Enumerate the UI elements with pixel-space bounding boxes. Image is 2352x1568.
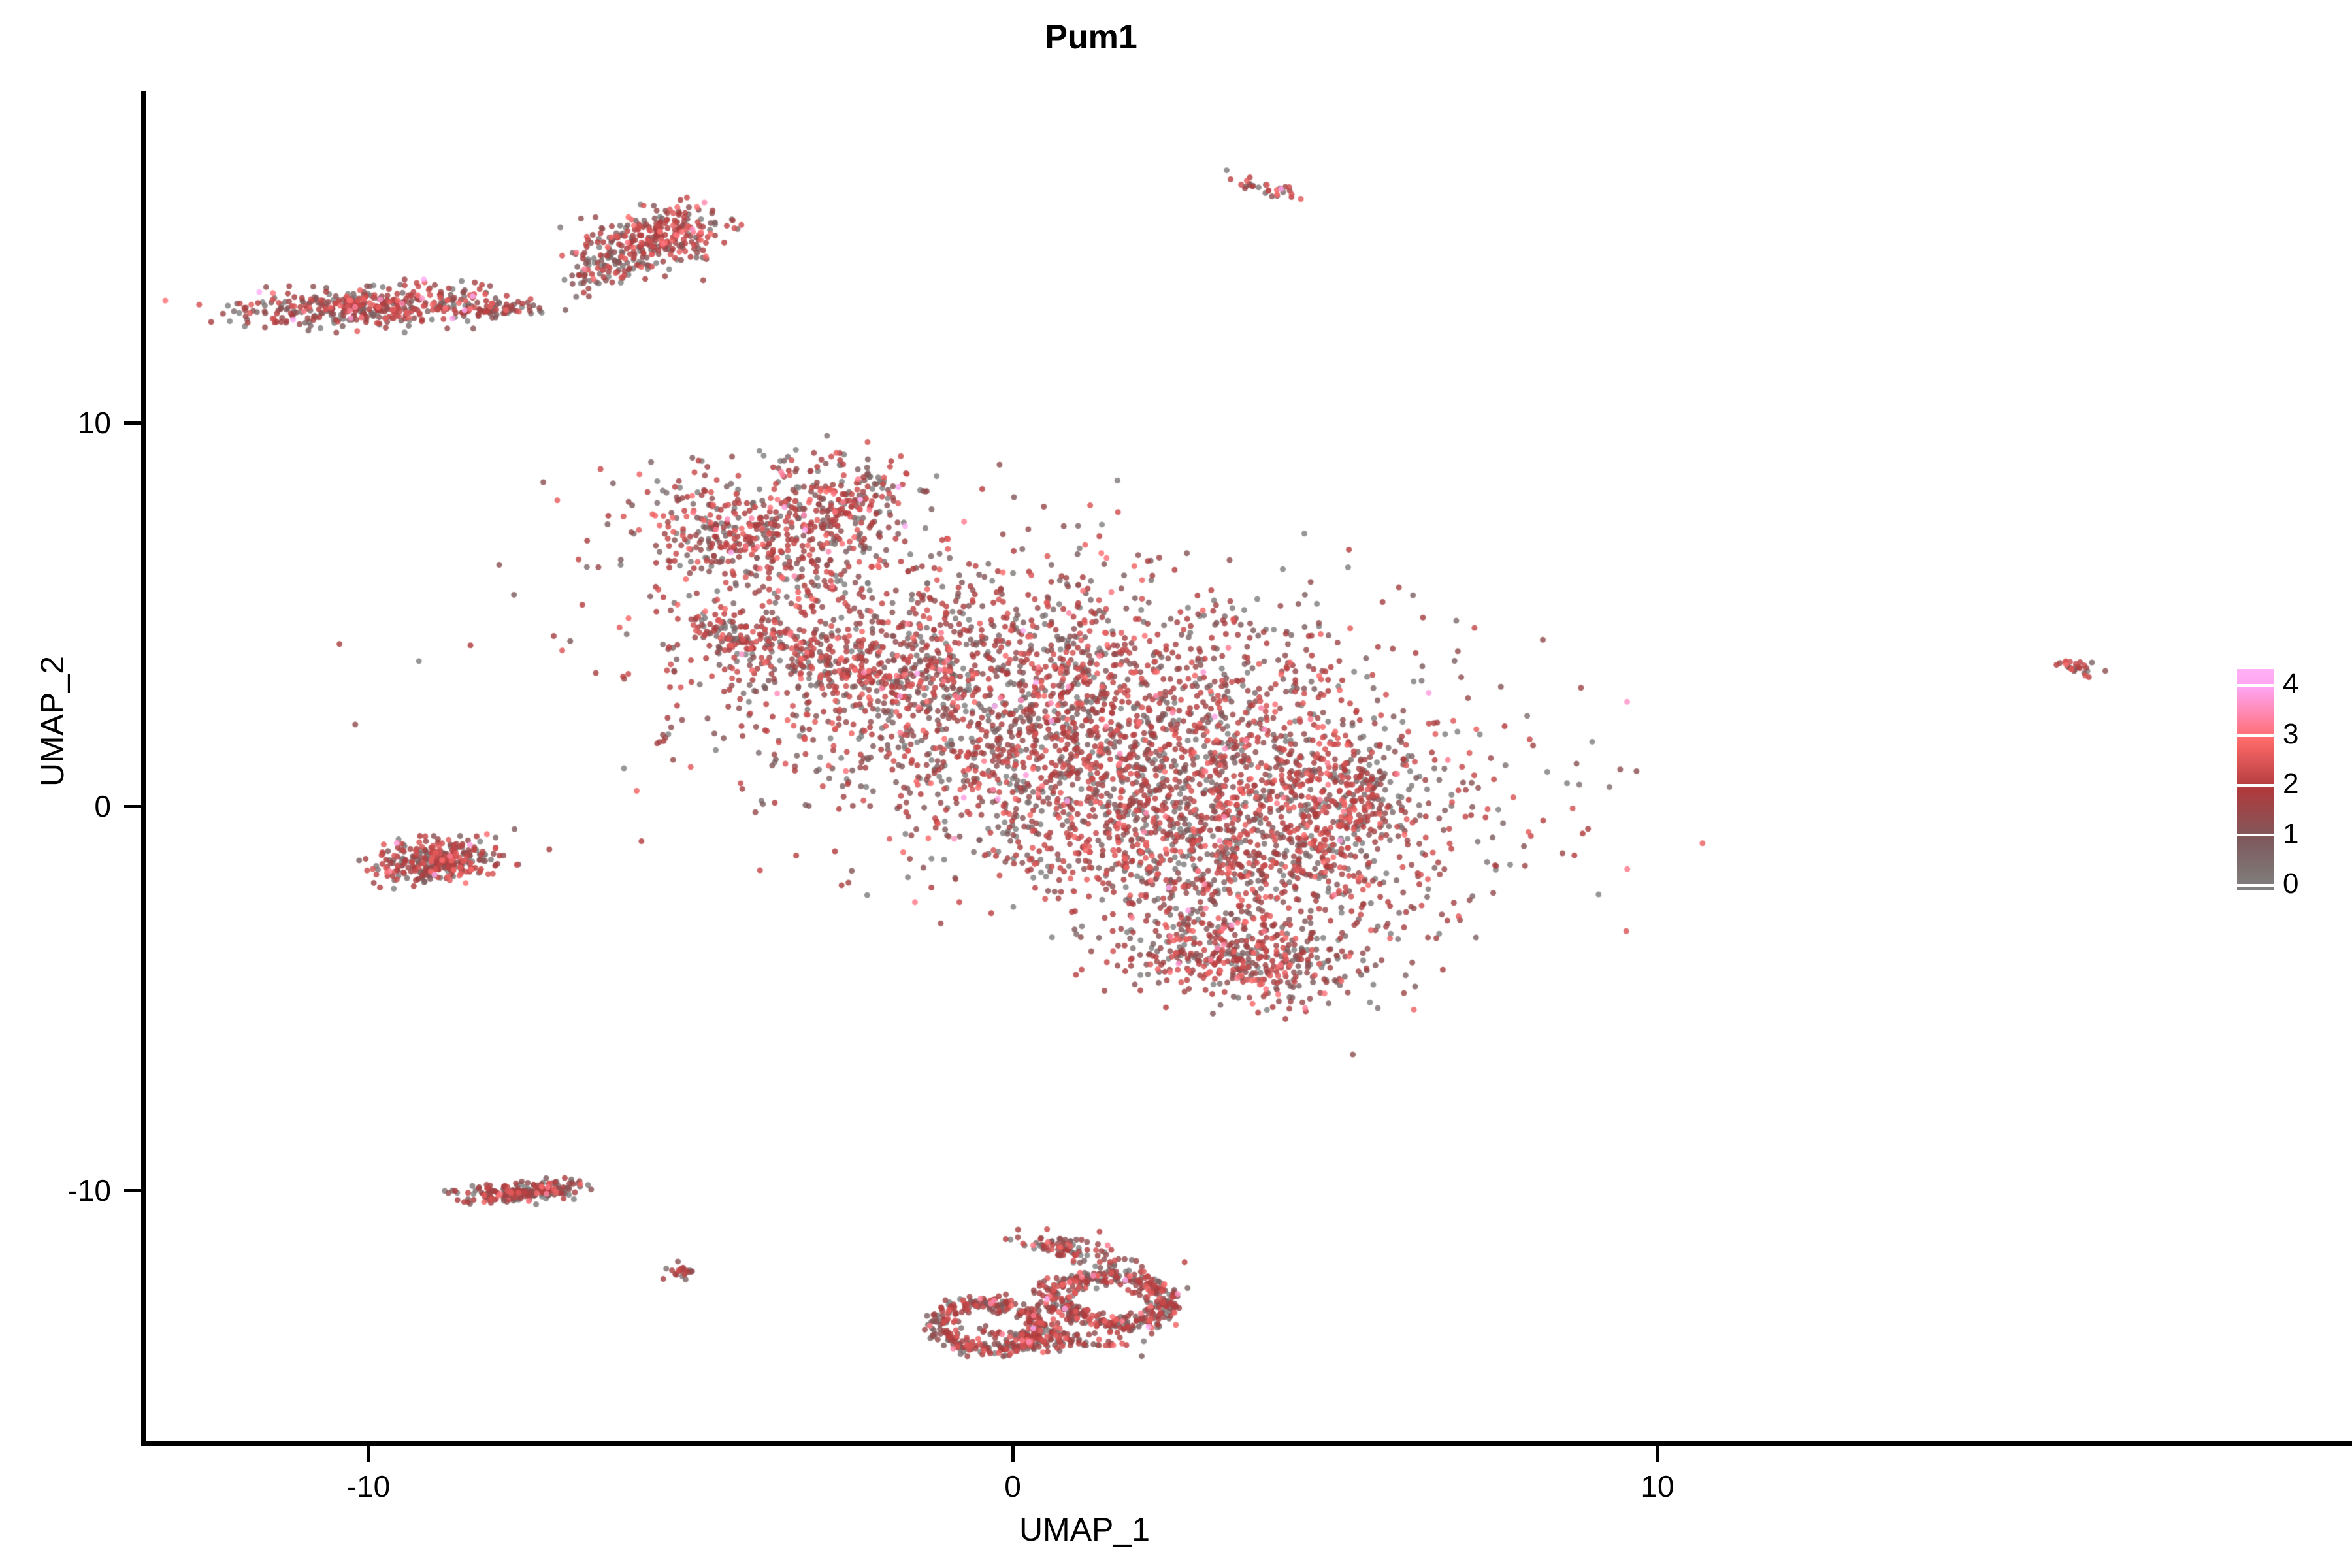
x-tick-label-0: -10 <box>303 1469 434 1504</box>
x-tick-label-1: 0 <box>947 1469 1078 1504</box>
y-tick-mark-2 <box>124 1189 141 1192</box>
x-tick-label-2: 10 <box>1592 1469 1723 1504</box>
x-axis-line <box>141 1441 2352 1446</box>
x-tick-mark-1 <box>1011 1445 1015 1462</box>
page-title: Pum1 <box>0 18 2182 56</box>
y-axis-title: UMAP_2 <box>33 460 71 983</box>
colorbar-tick-3 <box>2237 734 2274 737</box>
y-tick-mark-1 <box>124 805 141 808</box>
y-axis-line <box>141 91 146 1445</box>
colorbar-tick-1 <box>2237 834 2274 836</box>
plot-panel <box>145 91 2281 1441</box>
scatter-points-layer <box>145 91 2281 1441</box>
colorbar-label-0: 0 <box>2283 868 2298 900</box>
colorbar-label-2: 2 <box>2283 768 2298 800</box>
x-axis-title: UMAP_1 <box>823 1511 1346 1548</box>
colorbar-label-3: 3 <box>2283 718 2298 751</box>
y-tick-mark-0 <box>124 421 141 425</box>
umap-feature-plot-figure: Pum1 -10 0 10 10 0 -10 UMAP_1 UMAP_2 4 3… <box>0 0 2352 1568</box>
x-tick-mark-2 <box>1656 1445 1659 1462</box>
colorbar-gradient <box>2237 669 2274 890</box>
y-tick-label-0: 10 <box>0 405 111 440</box>
colorbar-label-1: 1 <box>2283 818 2298 851</box>
colorbar-tick-4 <box>2237 684 2274 687</box>
colorbar-label-4: 4 <box>2283 668 2298 700</box>
y-tick-label-2: -10 <box>0 1173 111 1208</box>
colorbar-legend: 4 3 2 1 0 <box>2237 669 2342 892</box>
colorbar-tick-2 <box>2237 784 2274 787</box>
x-tick-mark-0 <box>367 1445 370 1462</box>
colorbar-tick-0 <box>2237 884 2274 887</box>
